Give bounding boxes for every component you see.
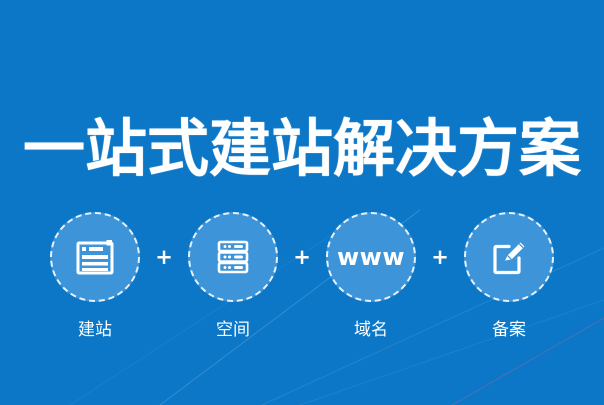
step-circle[interactable]: www — [326, 212, 416, 302]
plus-separator-1: + — [141, 212, 187, 302]
step-item-beian[interactable]: 备案 — [463, 212, 555, 339]
banner-headline: 一站式建站解决方案 — [0, 118, 604, 180]
step-item-yuming[interactable]: www 域名 — [325, 212, 417, 339]
plus-separator-3: + — [417, 212, 463, 302]
background-diagonal-lines — [0, 0, 604, 405]
step-label: 域名 — [354, 322, 388, 339]
step-circle[interactable] — [50, 212, 140, 302]
step-item-kongjian[interactable]: 空间 — [187, 212, 279, 339]
webpage-layout-icon — [75, 237, 115, 277]
www-text-icon: www — [337, 245, 405, 269]
step-circle[interactable] — [464, 212, 554, 302]
step-circle[interactable] — [188, 212, 278, 302]
promo-banner: 一站式建站解决方案 建站 + — [0, 0, 604, 405]
step-item-jianzhan[interactable]: 建站 — [49, 212, 141, 339]
steps-row: 建站 + — [0, 212, 604, 339]
step-label: 建站 — [78, 322, 112, 339]
edit-pencil-square-icon — [489, 237, 529, 277]
plus-separator-2: + — [279, 212, 325, 302]
server-rack-icon — [213, 237, 253, 277]
step-label: 空间 — [216, 322, 250, 339]
step-label: 备案 — [492, 322, 526, 339]
